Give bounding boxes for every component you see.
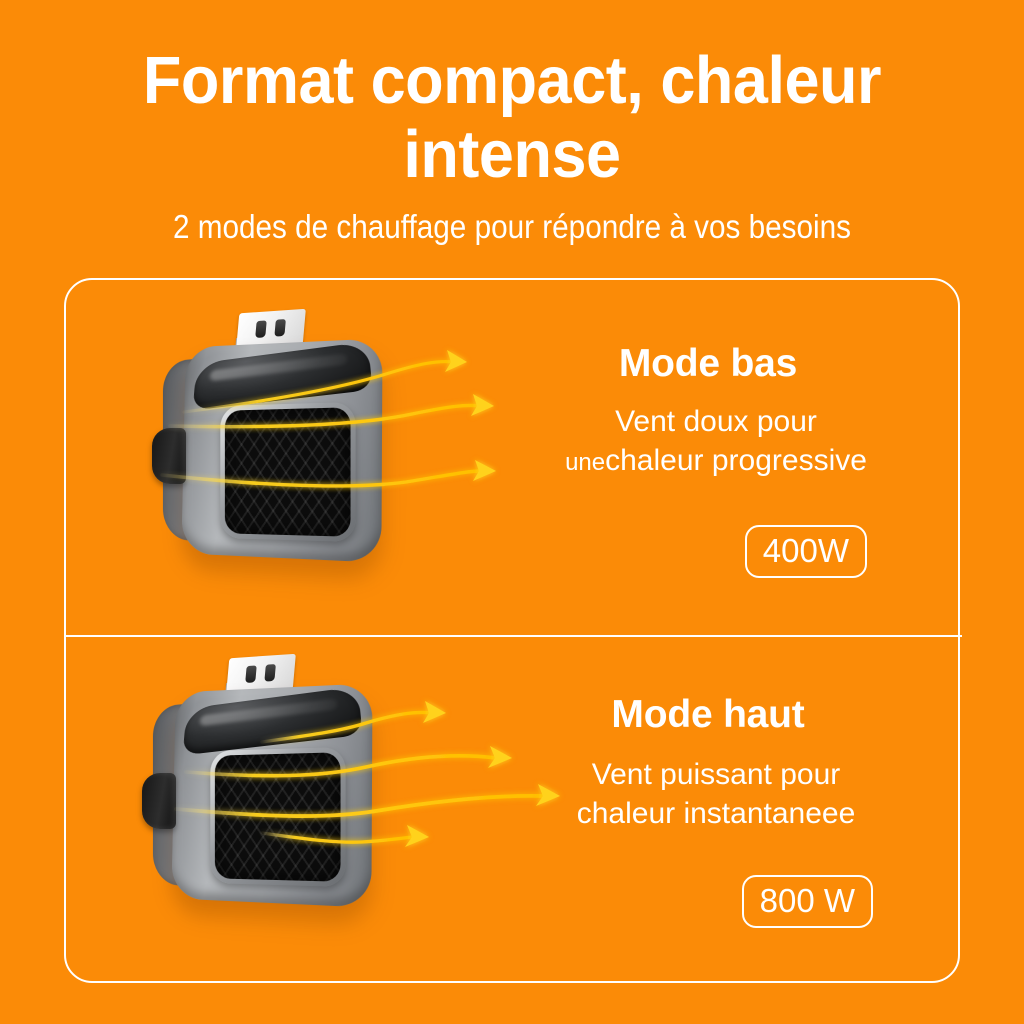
power-badge-high: 800 W <box>742 875 873 928</box>
mode-title-low: Mode bas <box>518 342 898 386</box>
infographic-page: Format compact, chaleur intense 2 modes … <box>0 0 1024 1024</box>
mode-description-low: Vent doux pour unechaleur progressive <box>516 402 916 482</box>
heater-control-knob-high <box>142 773 176 829</box>
heater-grille-mesh-high <box>215 752 341 882</box>
heater-grille-mesh-low <box>225 407 351 537</box>
plug-prong-left <box>255 320 267 338</box>
header: Format compact, chaleur intense 2 modes … <box>0 44 1024 246</box>
power-badge-low: 400W <box>745 525 867 578</box>
mode-row-high: Mode haut Vent puissant pour chaleur ins… <box>66 637 962 992</box>
plug-prong-right <box>274 319 286 337</box>
plug-prong-left <box>245 665 257 683</box>
heater-product-image-low <box>176 342 381 557</box>
mode-description-prefix-low: une <box>565 449 605 476</box>
heater-grille-bezel-low <box>220 402 355 542</box>
mode-description-line2-low: unechaleur progressive <box>516 441 916 482</box>
mode-row-low: Mode bas Vent doux pour unechaleur progr… <box>66 280 962 635</box>
page-subtitle: 2 modes de chauffage pour répondre à vos… <box>51 208 973 246</box>
mode-description-line2-high: chaleur instantaneee <box>516 794 916 833</box>
modes-card: Mode bas Vent doux pour unechaleur progr… <box>64 278 960 983</box>
heater-grille-bezel-high <box>210 747 345 887</box>
mode-description-line1-high: Vent puissant pour <box>516 755 916 794</box>
heater-control-knob-low <box>152 428 186 484</box>
heater-product-image-high <box>166 687 371 902</box>
mode-text-high: Mode haut Vent puissant pour chaleur ins… <box>476 637 946 992</box>
mode-description-high: Vent puissant pour chaleur instantaneee <box>516 755 916 833</box>
mode-description-line1-low: Vent doux pour <box>516 402 916 441</box>
plug-prong-right <box>264 664 276 682</box>
page-title: Format compact, chaleur intense <box>31 44 994 192</box>
mode-text-low: Mode bas Vent doux pour unechaleur progr… <box>476 280 946 635</box>
mode-description-line2-main-low: chaleur progressive <box>605 444 867 477</box>
mode-title-high: Mode haut <box>518 693 898 737</box>
